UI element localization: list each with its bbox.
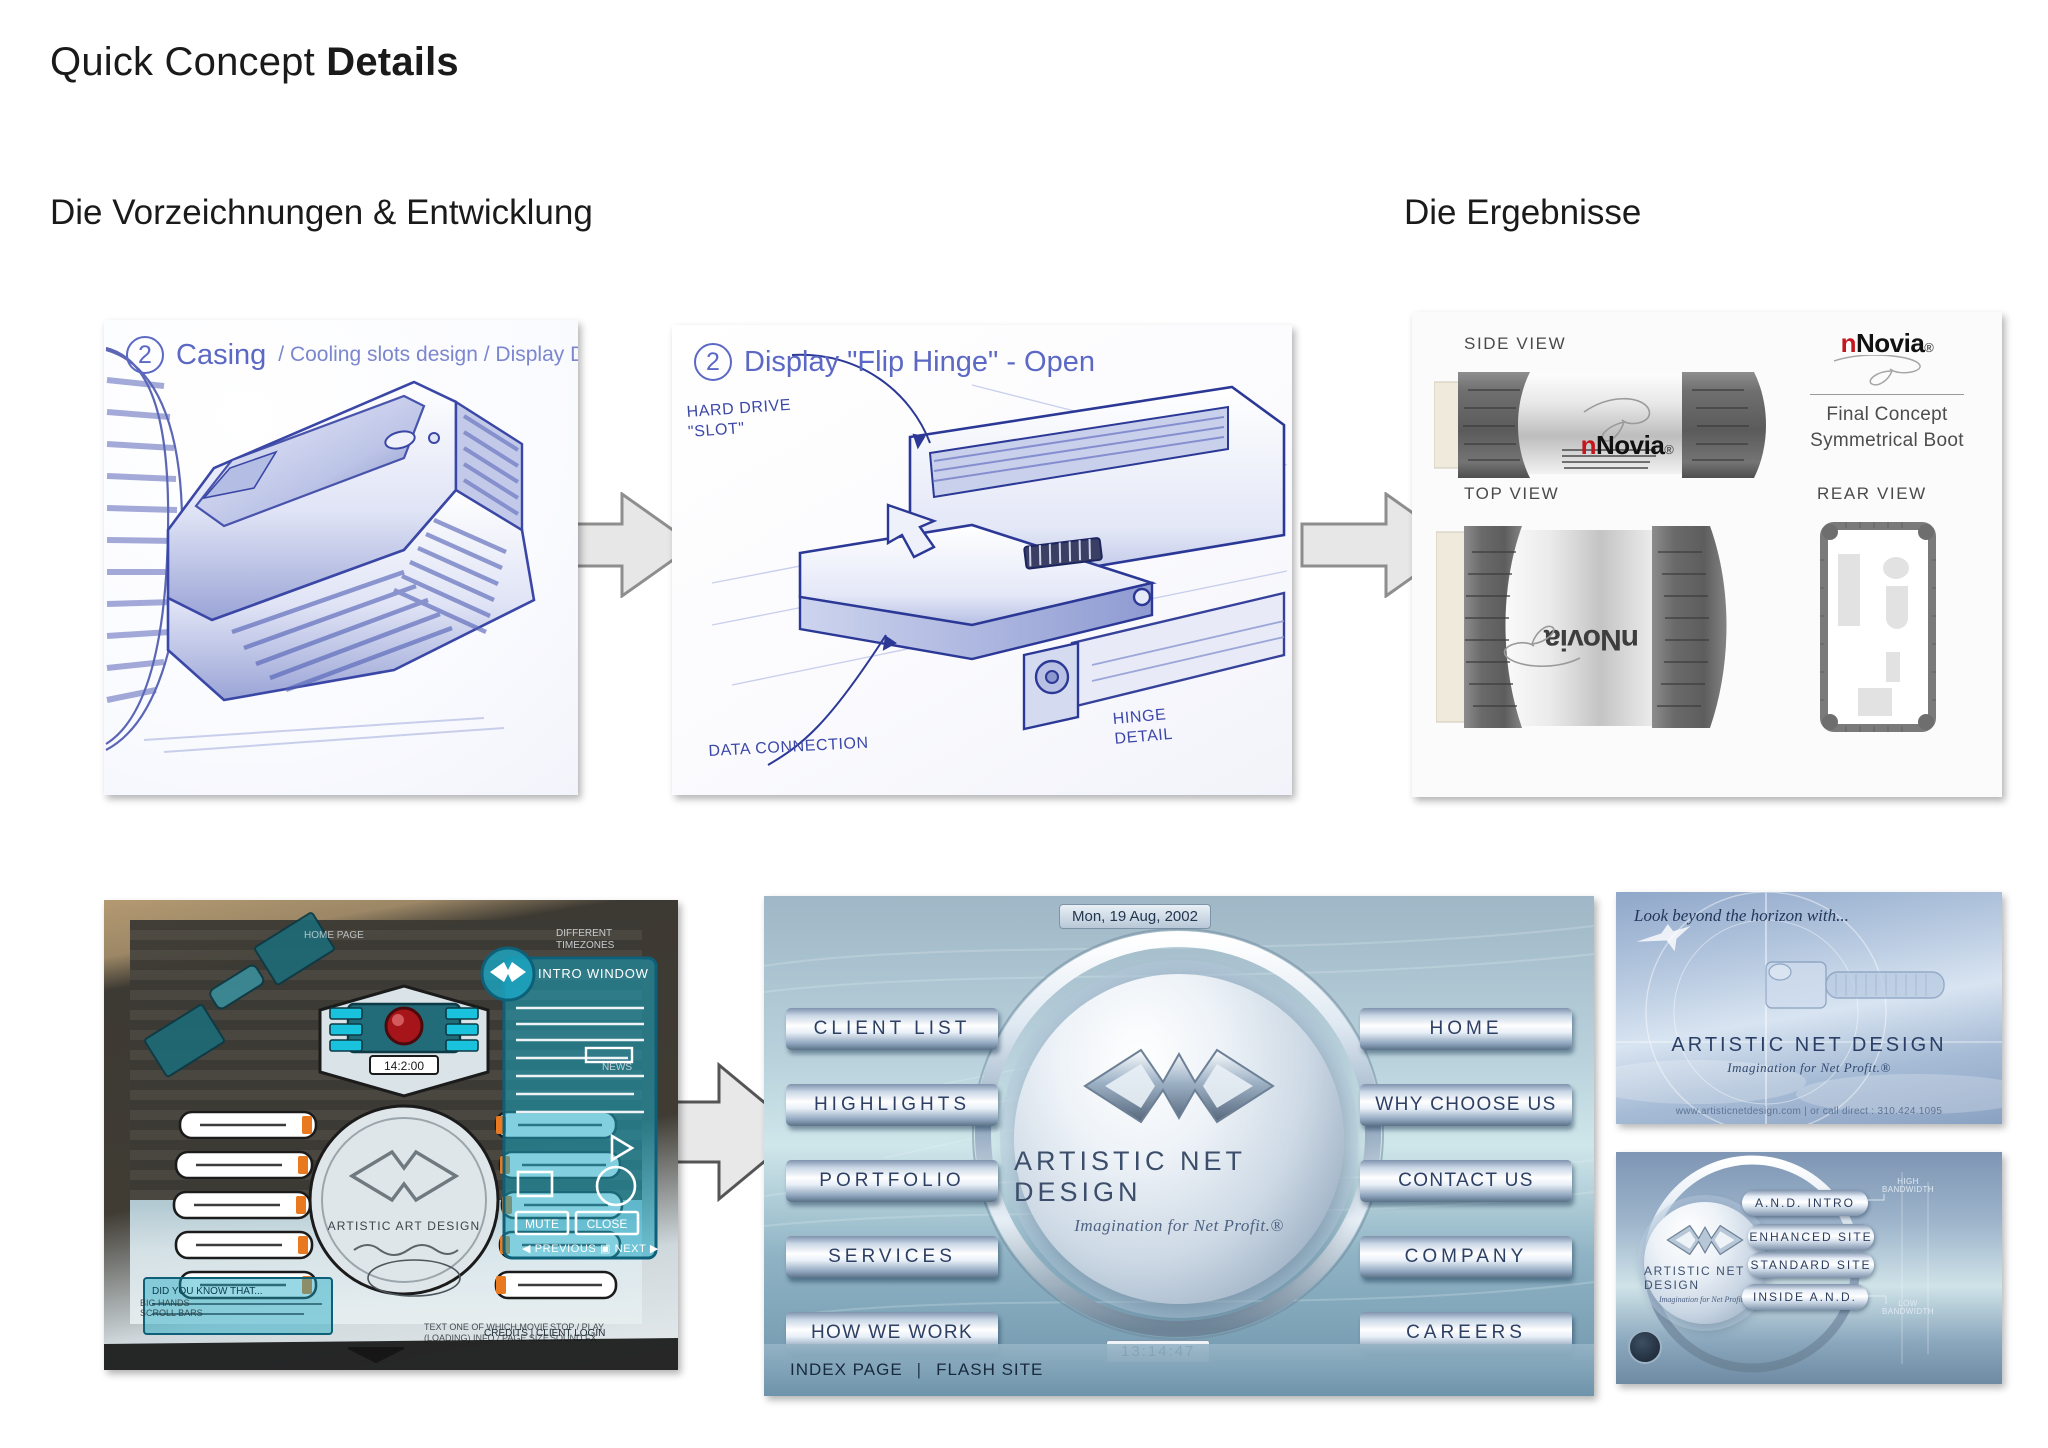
svg-text:BIG HANDS: BIG HANDS (140, 1298, 190, 1308)
spec-block: Final Concept Symmetrical Boot (1810, 404, 1964, 452)
brand-swoosh-icon (1812, 355, 1962, 387)
spec-divider (1810, 394, 1964, 395)
device-top-view: nNovia (1436, 512, 1766, 762)
label-top-view: TOP VIEW (1464, 484, 1559, 504)
page-title-regular: Quick Concept (50, 40, 326, 84)
svg-text:DID YOU KNOW THAT...: DID YOU KNOW THAT... (152, 1286, 263, 1297)
nav-label-why-choose-us: WHY CHOOSE US (1375, 1094, 1556, 1116)
menu-thumb-button-inside-and[interactable]: INSIDE A.N.D. (1742, 1284, 1868, 1310)
casing-sketch-drawing (104, 320, 578, 795)
orb-tagline: Imagination for Net Profit.® (1074, 1216, 1284, 1236)
brand-tm: ® (1924, 340, 1933, 355)
render-panel: SIDE VIEW (1412, 312, 2002, 797)
menu-thumb-label-inside-and: INSIDE A.N.D. (1753, 1290, 1857, 1304)
sketch-casing-title: Casing (176, 339, 266, 372)
menu-thumb-button-enhanced-site[interactable]: ENHANCED SITE (1748, 1224, 1874, 1250)
bandwidth-label-low: LOW BANDWIDTH (1878, 1300, 1938, 1317)
nav-label-careers: CAREERS (1406, 1322, 1526, 1344)
nav-button-why-choose-us[interactable]: WHY CHOOSE US (1360, 1084, 1572, 1126)
spec-line-2: Symmetrical Boot (1810, 430, 1964, 452)
brand-tm-side: ® (1664, 442, 1673, 457)
device-brand-side: nNovia® (1572, 430, 1682, 461)
web-mockup: Mon, 19 Aug, 2002 (764, 896, 1594, 1396)
svg-text:nNovia: nNovia (1544, 623, 1639, 656)
footer-link-index-page[interactable]: INDEX PAGE (790, 1360, 903, 1380)
svg-text:NEWS: NEWS (602, 1062, 632, 1073)
panel-brand-logo: nNovia® (1812, 328, 1962, 387)
nav-label-highlights: HIGHLIGHTS (814, 1094, 970, 1116)
and-logo-icon (1079, 1042, 1279, 1130)
svg-text:TIMEZONES: TIMEZONES (556, 940, 615, 951)
center-orb: ARTISTIC NET DESIGN Imagination for Net … (1014, 974, 1344, 1304)
brand-n-side: n (1581, 430, 1596, 460)
svg-text:TEXT ONE OF WHICH MOVIE: TEXT ONE OF WHICH MOVIE (424, 1322, 548, 1332)
brand-novia-side: Novia (1596, 430, 1664, 460)
nav-label-how-we-work: HOW WE WORK (811, 1322, 973, 1344)
orb-title: ARTISTIC NET DESIGN (1014, 1146, 1344, 1208)
page-title: Quick Concept Details (50, 40, 459, 85)
menu-thumb-button-and-intro[interactable]: A.N.D. INTRO (1742, 1190, 1868, 1216)
paper-sketch-drawing: 14:2:00 ARTISTIC ART DESIGN (104, 900, 678, 1370)
nav-label-services: SERVICES (828, 1246, 956, 1268)
bandwidth-label-high: HIGH BANDWIDTH (1878, 1178, 1938, 1195)
svg-text:HOME PAGE: HOME PAGE (304, 930, 364, 941)
subheading-left: Die Vorzeichnungen & Entwicklung (50, 193, 593, 233)
sketch-hinge-panel: 2 Display "Flip Hinge" - Open HARD DRIVE… (672, 325, 1292, 795)
nav-button-home[interactable]: HOME (1360, 1008, 1572, 1050)
annotation-hinge-detail: HINGE DETAIL (1112, 705, 1174, 750)
label-rear-view: REAR VIEW (1817, 484, 1927, 504)
sketch-casing-subtitle: / Cooling slots design / Display Design (278, 343, 578, 367)
mockup-footer: INDEX PAGE | FLASH SITE (764, 1344, 1594, 1396)
svg-text:CLOSE: CLOSE (587, 1217, 628, 1231)
splash-tagline: Imagination for Net Profit.® (1616, 1060, 2002, 1076)
device-side-view (1434, 364, 1794, 484)
nav-label-company: COMPANY (1405, 1246, 1528, 1268)
splash-headline: Look beyond the horizon with... (1634, 906, 1849, 926)
thumbnail-menu: ARTISTIC NET DESIGN Imagination for Net … (1616, 1152, 2002, 1384)
menu-thumb-button-standard-site[interactable]: STANDARD SITE (1748, 1252, 1874, 1278)
menu-thumb-label-enhanced-site: ENHANCED SITE (1749, 1230, 1872, 1244)
svg-text:STOP / PLAY: STOP / PLAY (550, 1322, 604, 1332)
nav-label-portfolio: PORTFOLIO (819, 1170, 964, 1192)
nav-button-company[interactable]: COMPANY (1360, 1236, 1572, 1278)
footer-separator: | (917, 1360, 922, 1380)
nav-label-contact-us: CONTACT US (1398, 1170, 1534, 1192)
sketch-hinge-title: Display "Flip Hinge" - Open (744, 346, 1095, 379)
svg-text:INTRO WINDOW: INTRO WINDOW (538, 966, 649, 981)
svg-text:MUTE: MUTE (525, 1217, 559, 1231)
slide-root: Quick Concept Details Die Vorzeichnungen… (0, 0, 2048, 1448)
splash-artwork (1616, 892, 2002, 1124)
svg-text:SCROLL BARS: SCROLL BARS (140, 1308, 203, 1318)
nav-button-client-list[interactable]: CLIENT LIST (786, 1008, 998, 1050)
footer-link-flash-site[interactable]: FLASH SITE (936, 1360, 1043, 1380)
sketch-casing-panel: 2 Casing / Cooling slots design / Displa… (104, 320, 578, 795)
nav-label-client-list: CLIENT LIST (814, 1018, 971, 1040)
subheading-right: Die Ergebnisse (1404, 193, 1641, 233)
step-number-badge: 2 (126, 336, 164, 374)
sketch-casing-heading: 2 Casing / Cooling slots design / Displa… (126, 336, 578, 374)
svg-text:◀ PREVIOUS ▣ NEXT ▶: ◀ PREVIOUS ▣ NEXT ▶ (522, 1243, 659, 1255)
menu-thumb-label-standard-site: STANDARD SITE (1750, 1258, 1871, 1272)
and-logo-icon-small (1665, 1222, 1745, 1258)
device-rear-view (1812, 512, 1952, 762)
nav-label-home: HOME (1430, 1018, 1503, 1040)
menu-thumb-label-and-intro: A.N.D. INTRO (1755, 1196, 1855, 1210)
nav-button-services[interactable]: SERVICES (786, 1236, 998, 1278)
thumbnail-splash: Look beyond the horizon with... ARTISTIC… (1616, 892, 2002, 1124)
svg-text:DIFFERENT: DIFFERENT (556, 928, 612, 939)
nav-button-portfolio[interactable]: PORTFOLIO (786, 1160, 998, 1202)
menu-thumb-tagline: Imagination for Net Profit.® (1659, 1295, 1751, 1304)
label-side-view: SIDE VIEW (1464, 334, 1566, 354)
brand-novia: Novia (1856, 328, 1924, 358)
svg-text:14:2:00: 14:2:00 (384, 1059, 424, 1073)
paper-sketch-photo: 14:2:00 ARTISTIC ART DESIGN (104, 900, 678, 1370)
nav-button-highlights[interactable]: HIGHLIGHTS (786, 1084, 998, 1126)
page-title-bold: Details (326, 40, 459, 84)
annotation-hard-drive-slot: HARD DRIVE "SLOT" (686, 396, 793, 443)
flash-badge-icon (1628, 1330, 1662, 1364)
nav-button-contact-us[interactable]: CONTACT US (1360, 1160, 1572, 1202)
spec-line-1: Final Concept (1810, 404, 1964, 426)
svg-text:ARTISTIC ART DESIGN: ARTISTIC ART DESIGN (328, 1219, 481, 1233)
step-number-badge-2: 2 (694, 343, 732, 381)
splash-contact-line: www.artisticnetdesign.com | or call dire… (1616, 1106, 2002, 1117)
brand-n: n (1841, 328, 1856, 358)
hinge-sketch-drawing (672, 325, 1292, 795)
splash-title: ARTISTIC NET DESIGN (1616, 1034, 2002, 1057)
sketch-hinge-heading: 2 Display "Flip Hinge" - Open (694, 343, 1095, 381)
